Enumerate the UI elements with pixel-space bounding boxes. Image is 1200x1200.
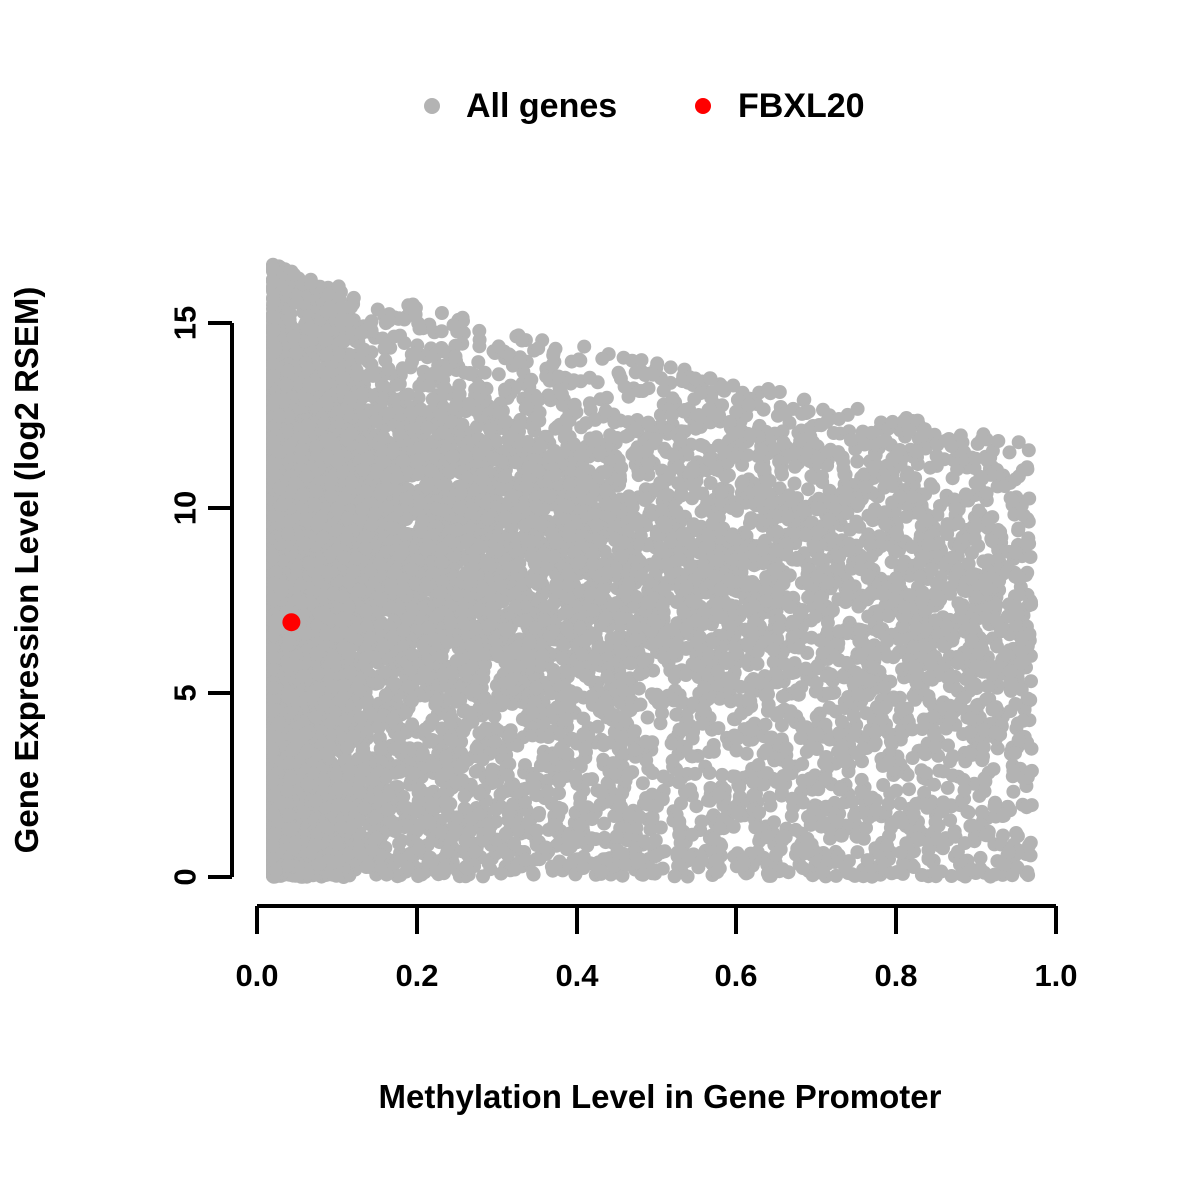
x-axis-title: Methylation Level in Gene Promoter	[379, 1078, 942, 1115]
x-tick-label-08: 0.8	[874, 958, 917, 993]
y-tick-label-10: 10	[168, 491, 203, 525]
x-tick-label-04: 0.4	[555, 958, 599, 993]
x-tick-label-10: 1.0	[1034, 958, 1077, 993]
legend-label-all-genes: All genes	[466, 87, 617, 125]
x-tick-label-00: 0.0	[235, 958, 278, 993]
legend-marker-fbxl20	[695, 98, 711, 114]
y-tick-label-15: 15	[168, 306, 203, 340]
highlight-point-layer	[282, 613, 300, 631]
legend-label-fbxl20: FBXL20	[738, 87, 865, 125]
y-axis-title: Gene Expression Level (log2 RSEM)	[8, 287, 45, 854]
highlight-point-fbxl20	[282, 613, 300, 631]
y-tick-label-5: 5	[168, 684, 203, 701]
x-tick-label-02: 0.2	[395, 958, 438, 993]
scatter-plot-figure: 15 10 5 0 0.0 0.2 0.4 0.6 0.8 1.0 Methyl…	[0, 0, 1200, 1200]
y-tick-label-0: 0	[168, 868, 203, 885]
legend-marker-all-genes	[424, 98, 440, 114]
x-tick-label-06: 0.6	[714, 958, 757, 993]
plot-canvas: 15 10 5 0 0.0 0.2 0.4 0.6 0.8 1.0 Methyl…	[0, 0, 1200, 1200]
